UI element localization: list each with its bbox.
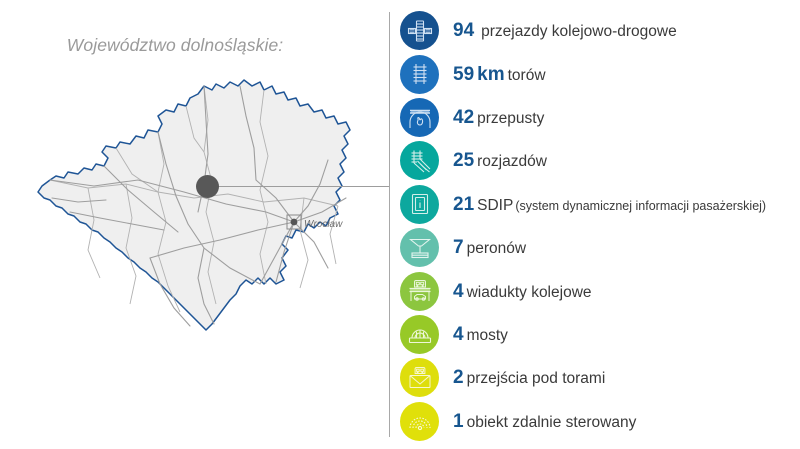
stat-text: 7peronów [453, 238, 526, 257]
lower-silesia-map: Wrocław [8, 72, 368, 402]
stat-value: 4 [453, 324, 464, 345]
stat-row: 94przejazdy kolejowo-drogowe [400, 10, 800, 52]
stat-label: SDIP [477, 197, 513, 214]
underpass-icon [400, 358, 439, 397]
railway-track-icon [400, 55, 439, 94]
stat-label: przepusty [477, 110, 544, 127]
map-panel: Województwo dolnośląskie: [0, 0, 389, 449]
stat-value: 42 [453, 107, 474, 128]
stat-text: 59kmtorów [453, 65, 546, 84]
page-title: Województwo dolnośląskie: [0, 35, 350, 56]
stat-value: 21 [453, 194, 474, 215]
stat-row: 25rozjazdów [400, 140, 800, 182]
stat-row: 59kmtorów [400, 53, 800, 95]
stat-row: 7peronów [400, 227, 800, 269]
stat-label: torów [508, 67, 546, 84]
stat-text: 1obiekt zdalnie sterowany [453, 412, 636, 431]
stat-label: rozjazdów [477, 153, 547, 170]
stat-unit: km [477, 64, 504, 85]
arch-bridge-icon [400, 315, 439, 354]
stat-row: 2przejścia pod torami [400, 357, 800, 399]
stat-label: obiekt zdalnie sterowany [467, 414, 637, 431]
stat-value: 94 [453, 20, 474, 41]
passenger-information-display-icon [400, 185, 439, 224]
stat-row: 1obiekt zdalnie sterowany [400, 400, 800, 442]
railway-turnout-icon [400, 141, 439, 180]
stat-label: mosty [467, 327, 508, 344]
stat-value: 59 [453, 64, 474, 85]
level-crossing-icon [400, 11, 439, 50]
stat-text: 4wiadukty kolejowe [453, 282, 592, 301]
statistics-list: 94przejazdy kolejowo-drogowe 59kmtorów [400, 10, 800, 442]
stat-value: 2 [453, 367, 464, 388]
stat-label: przejazdy kolejowo-drogowe [481, 23, 677, 40]
railway-viaduct-icon [400, 272, 439, 311]
stat-row: 4mosty [400, 314, 800, 356]
project-location-dot [196, 175, 219, 198]
vertical-divider [389, 12, 390, 437]
stat-text: 42przepusty [453, 108, 544, 127]
platform-canopy-icon [400, 228, 439, 267]
stat-note: (system dynamicznej informacji pasażersk… [515, 199, 766, 213]
map-leader-line [207, 186, 389, 187]
stat-value: 4 [453, 281, 464, 302]
wroclaw-label: Wrocław [304, 219, 343, 230]
stat-text: 94przejazdy kolejowo-drogowe [453, 21, 677, 40]
stat-value: 25 [453, 150, 474, 171]
stat-row: 21SDIP(system dynamicznej informacji pas… [400, 184, 800, 226]
stat-text: 2przejścia pod torami [453, 368, 605, 387]
stat-text: 4mosty [453, 325, 508, 344]
stat-row: 4wiadukty kolejowe [400, 270, 800, 312]
stat-label: przejścia pod torami [467, 370, 606, 387]
stat-label: wiadukty kolejowe [467, 284, 592, 301]
remote-control-signal-icon [400, 402, 439, 441]
culvert-icon [400, 98, 439, 137]
stat-value: 7 [453, 237, 464, 258]
stat-text: 21SDIP(system dynamicznej informacji pas… [453, 195, 766, 214]
stat-text: 25rozjazdów [453, 151, 547, 170]
stat-label: peronów [467, 240, 526, 257]
stat-value: 1 [453, 411, 464, 432]
stat-row: 42przepusty [400, 97, 800, 139]
